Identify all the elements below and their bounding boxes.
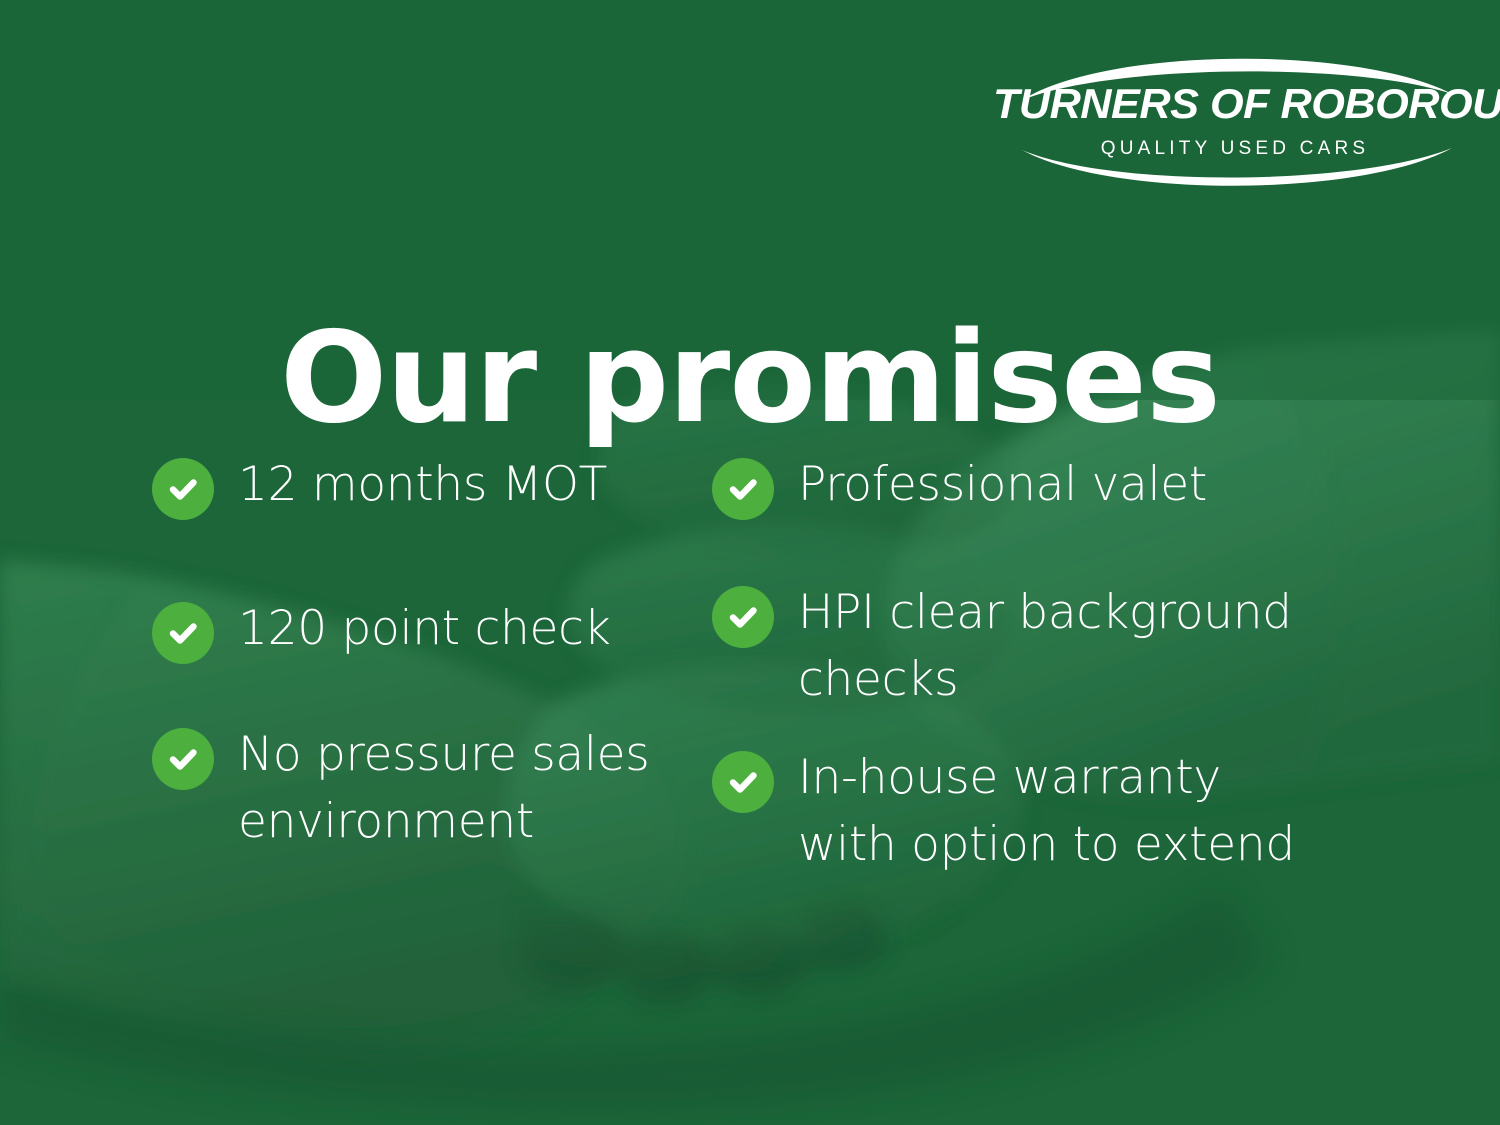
promise-item: Professional valet bbox=[712, 452, 1332, 520]
promises-right-column: Professional valet HPI clear background … bbox=[712, 452, 1332, 957]
logo-tagline: QUALITY USED CARS bbox=[1000, 138, 1470, 160]
promise-item: HPI clear background checks bbox=[712, 580, 1332, 713]
promises-poster: TURNERS OF ROBOROUGH QUALITY USED CARS O… bbox=[0, 0, 1500, 1125]
promise-label: No pressure sales environment bbox=[238, 722, 712, 855]
check-circle-icon bbox=[712, 458, 774, 520]
logo-company-name: TURNERS OF ROBOROUGH bbox=[993, 80, 1477, 128]
promise-item: No pressure sales environment bbox=[152, 722, 712, 855]
promise-label: 120 point check bbox=[238, 596, 611, 663]
check-circle-icon bbox=[152, 728, 214, 790]
promises-left-column: 12 months MOT 120 point check No pressur… bbox=[152, 452, 712, 957]
check-circle-icon bbox=[152, 458, 214, 520]
promise-item: 120 point check bbox=[152, 596, 712, 664]
promise-label: In-house warranty with option to extend bbox=[798, 745, 1332, 878]
promises-list: 12 months MOT 120 point check No pressur… bbox=[152, 452, 1432, 957]
page-title: Our promises bbox=[0, 312, 1500, 444]
promise-item: 12 months MOT bbox=[152, 452, 712, 520]
promise-label: Professional valet bbox=[798, 452, 1207, 519]
promise-label: HPI clear background checks bbox=[798, 580, 1332, 713]
check-circle-icon bbox=[712, 751, 774, 813]
check-circle-icon bbox=[712, 586, 774, 648]
check-circle-icon bbox=[152, 602, 214, 664]
promise-item: In-house warranty with option to extend bbox=[712, 745, 1332, 878]
brand-logo[interactable]: TURNERS OF ROBOROUGH QUALITY USED CARS bbox=[1000, 38, 1470, 198]
promise-label: 12 months MOT bbox=[238, 452, 607, 519]
